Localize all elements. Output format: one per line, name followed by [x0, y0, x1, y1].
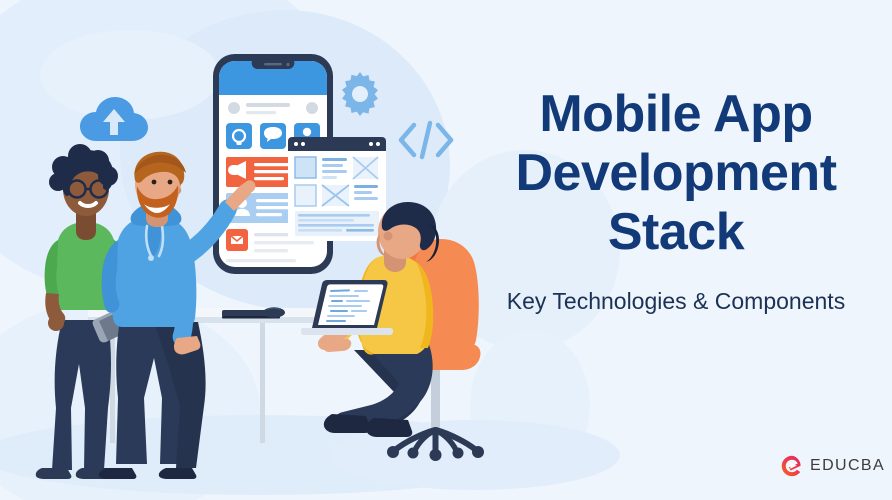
- headline-block: Mobile App Development Stack Key Technol…: [470, 85, 882, 316]
- cloud-upload-icon: [78, 95, 150, 147]
- educba-e-mark-icon: [781, 455, 803, 477]
- educba-wordmark: EDUCBA: [810, 457, 885, 475]
- poster-canvas: Mobile App Development Stack Key Technol…: [0, 0, 892, 500]
- title-line-2: Development: [470, 144, 882, 203]
- laptop: [300, 278, 396, 340]
- man-pointing-hoodie: [94, 152, 254, 482]
- title-line-1: Mobile App: [470, 85, 882, 144]
- gear-icon: [338, 72, 382, 116]
- code-brackets-icon: [398, 118, 454, 162]
- subtitle: Key Technologies & Components: [470, 286, 882, 316]
- educba-logo[interactable]: EDUCBA: [781, 455, 885, 477]
- mouse: [262, 305, 286, 318]
- title-line-3: Stack: [470, 203, 882, 262]
